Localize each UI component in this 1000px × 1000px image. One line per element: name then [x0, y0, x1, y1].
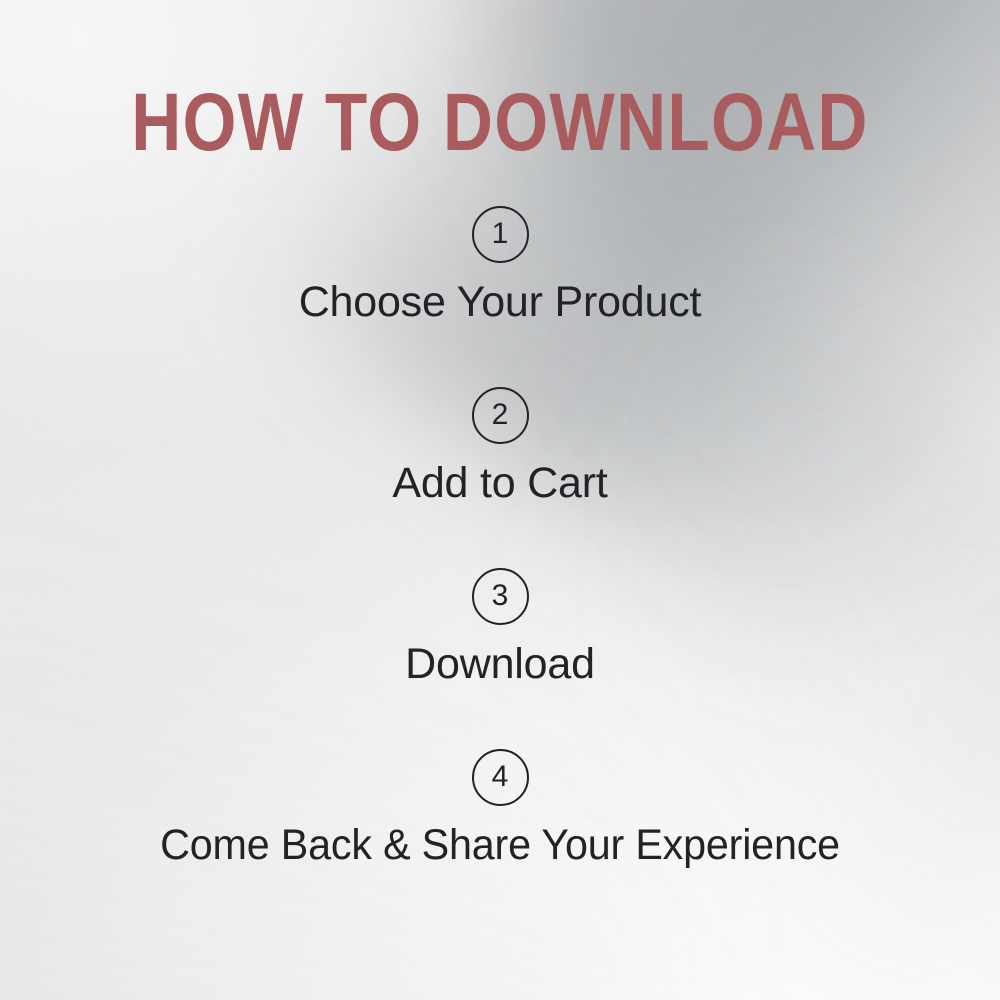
step-number-badge-1: 1: [472, 206, 529, 263]
step-number-badge-3: 3: [472, 568, 529, 625]
step-number-2: 2: [492, 400, 509, 430]
step-number-badge-4: 4: [472, 749, 529, 806]
step-label-1: Choose Your Product: [299, 280, 702, 325]
step-item-1: 1 Choose Your Product: [0, 206, 1000, 387]
poster-content: HOW TO DOWNLOAD 1 Choose Your Product 2 …: [0, 0, 1000, 1000]
step-item-3: 3 Download: [0, 568, 1000, 749]
step-item-4: 4 Come Back & Share Your Experience: [0, 749, 1000, 930]
step-label-3: Download: [405, 642, 595, 687]
step-number-badge-2: 2: [472, 387, 529, 444]
step-item-2: 2 Add to Cart: [0, 387, 1000, 568]
step-number-1: 1: [492, 219, 509, 249]
step-number-3: 3: [492, 581, 509, 611]
page-title: HOW TO DOWNLOAD: [78, 82, 923, 164]
step-label-4: Come Back & Share Your Experience: [160, 823, 840, 868]
step-number-4: 4: [492, 762, 509, 792]
steps-list: 1 Choose Your Product 2 Add to Cart 3 Do…: [0, 206, 1000, 930]
step-label-2: Add to Cart: [392, 461, 607, 506]
